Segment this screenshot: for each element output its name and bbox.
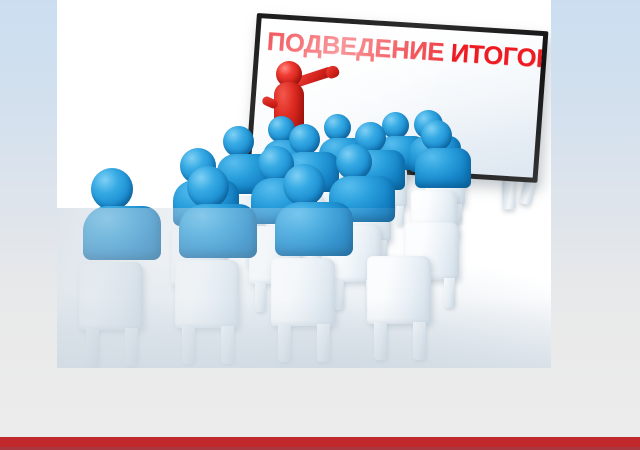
slide-canvas: ПОДВЕДЕНИЕ ИТОГОВ	[0, 0, 640, 450]
figure-head	[187, 166, 229, 208]
chair-leg	[413, 322, 426, 360]
audience-figure	[415, 120, 479, 202]
figure-torso	[275, 202, 353, 256]
figure-head	[283, 164, 325, 206]
chair-leg	[221, 326, 234, 364]
meeting-presentation-illustration: ПОДВЕДЕНИЕ ИТОГОВ	[57, 0, 551, 368]
chair-leg	[374, 322, 387, 360]
figure-head	[91, 168, 133, 210]
figure-torso	[179, 204, 257, 258]
chair-leg	[125, 328, 138, 366]
chair	[367, 256, 459, 368]
chair-leg	[182, 326, 195, 364]
footer-accent-bar-fill	[0, 437, 640, 447]
footer-accent-bar	[0, 437, 640, 450]
figure-torso	[83, 206, 161, 260]
chair-leg	[278, 324, 291, 362]
chair-backrest	[367, 256, 431, 324]
audience-figure	[275, 164, 369, 276]
chair-leg	[317, 324, 330, 362]
figure-torso	[415, 148, 471, 188]
audience-figure	[83, 168, 177, 280]
audience-figure	[179, 166, 273, 278]
chair-leg	[86, 328, 99, 366]
figure-head	[421, 120, 452, 151]
